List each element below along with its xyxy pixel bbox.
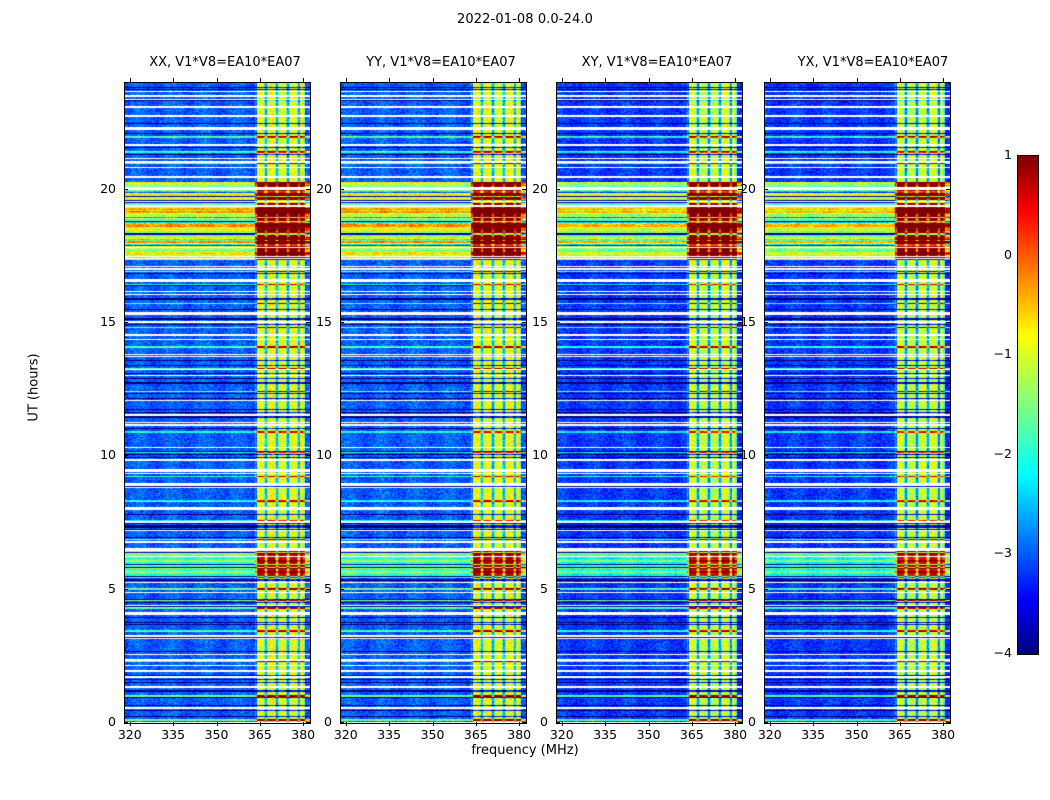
x-tick-mark <box>433 722 434 726</box>
y-tick-label-0: 0 <box>518 714 548 729</box>
x-tick-mark-top <box>130 78 131 82</box>
x-tick-mark-top <box>735 78 736 82</box>
y-tick-mark <box>124 455 128 456</box>
x-tick-mark-top <box>476 78 477 82</box>
x-tick-mark-top <box>217 78 218 82</box>
x-tick-mark <box>605 722 606 726</box>
waterfall-image-yx <box>765 83 950 723</box>
colorbar-tick-label--3: −3 <box>986 545 1012 560</box>
x-tick-mark-top <box>605 78 606 82</box>
x-tick-label-335: 335 <box>153 727 193 742</box>
y-tick-label-10: 10 <box>726 447 756 462</box>
y-tick-mark-right <box>946 589 950 590</box>
y-tick-label-10: 10 <box>86 447 116 462</box>
y-tick-mark <box>340 189 344 190</box>
x-tick-label-365: 365 <box>456 727 496 742</box>
x-tick-label-380: 380 <box>283 727 323 742</box>
y-tick-label-20: 20 <box>86 181 116 196</box>
x-tick-mark <box>346 722 347 726</box>
y-tick-mark <box>556 322 560 323</box>
y-tick-label-5: 5 <box>518 581 548 596</box>
y-tick-label-0: 0 <box>86 714 116 729</box>
x-axis-label: frequency (MHz) <box>375 743 675 758</box>
y-tick-label-0: 0 <box>726 714 756 729</box>
x-tick-label-335: 335 <box>793 727 833 742</box>
waterfall-image-xx <box>125 83 310 723</box>
waterfall-image-xy <box>557 83 742 723</box>
y-tick-mark <box>556 189 560 190</box>
y-tick-mark <box>764 722 768 723</box>
x-tick-mark <box>217 722 218 726</box>
x-tick-mark <box>130 722 131 726</box>
y-tick-mark <box>340 722 344 723</box>
y-tick-mark <box>556 455 560 456</box>
x-tick-label-320: 320 <box>750 727 790 742</box>
x-tick-label-365: 365 <box>880 727 920 742</box>
y-tick-label-0: 0 <box>302 714 332 729</box>
x-tick-mark-top <box>692 78 693 82</box>
x-tick-mark-top <box>389 78 390 82</box>
x-tick-label-350: 350 <box>629 727 669 742</box>
x-tick-label-335: 335 <box>585 727 625 742</box>
x-tick-mark-top <box>519 78 520 82</box>
x-tick-mark <box>813 722 814 726</box>
y-tick-mark <box>764 322 768 323</box>
x-tick-mark-top <box>303 78 304 82</box>
y-tick-mark <box>340 455 344 456</box>
x-tick-mark <box>389 722 390 726</box>
x-tick-mark <box>900 722 901 726</box>
y-tick-mark <box>764 189 768 190</box>
x-tick-mark-top <box>813 78 814 82</box>
figure-suptitle: 2022-01-08 0.0-24.0 <box>0 12 1050 27</box>
y-tick-label-5: 5 <box>302 581 332 596</box>
y-tick-mark <box>340 322 344 323</box>
x-tick-label-320: 320 <box>110 727 150 742</box>
x-tick-label-350: 350 <box>413 727 453 742</box>
x-tick-label-380: 380 <box>499 727 539 742</box>
colorbar-tick-label--4: −4 <box>986 645 1012 660</box>
colorbar-tick-label--2: −2 <box>986 446 1012 461</box>
y-tick-mark <box>556 722 560 723</box>
x-tick-mark <box>857 722 858 726</box>
panel-title-yx: YX, V1*V8=EA10*EA07 <box>743 55 1003 70</box>
waterfall-panel-xy[interactable] <box>556 82 743 724</box>
x-tick-mark-top <box>173 78 174 82</box>
x-tick-mark <box>173 722 174 726</box>
y-tick-label-15: 15 <box>726 314 756 329</box>
x-tick-mark-top <box>649 78 650 82</box>
x-tick-mark-top <box>260 78 261 82</box>
waterfall-panel-yx[interactable] <box>764 82 951 724</box>
y-tick-mark-right <box>946 455 950 456</box>
y-tick-mark <box>764 589 768 590</box>
colorbar[interactable] <box>1017 155 1039 655</box>
y-tick-mark <box>124 722 128 723</box>
y-tick-mark <box>124 322 128 323</box>
y-tick-label-15: 15 <box>302 314 332 329</box>
x-tick-label-365: 365 <box>672 727 712 742</box>
y-tick-mark <box>556 589 560 590</box>
x-tick-mark <box>943 722 944 726</box>
x-tick-label-335: 335 <box>369 727 409 742</box>
x-tick-mark <box>260 722 261 726</box>
y-tick-label-5: 5 <box>726 581 756 596</box>
y-tick-label-10: 10 <box>302 447 332 462</box>
x-tick-mark-top <box>346 78 347 82</box>
y-tick-mark <box>764 455 768 456</box>
y-tick-mark <box>124 189 128 190</box>
y-tick-mark <box>124 589 128 590</box>
x-tick-label-380: 380 <box>923 727 963 742</box>
x-tick-label-350: 350 <box>837 727 877 742</box>
colorbar-tick-label-1: 1 <box>986 147 1012 162</box>
colorbar-tick-label-0: 0 <box>986 247 1012 262</box>
x-tick-mark-top <box>433 78 434 82</box>
y-tick-mark-right <box>946 722 950 723</box>
y-tick-label-10: 10 <box>518 447 548 462</box>
x-tick-mark-top <box>562 78 563 82</box>
y-tick-label-20: 20 <box>302 181 332 196</box>
x-tick-mark <box>770 722 771 726</box>
waterfall-image-yy <box>341 83 526 723</box>
x-tick-label-320: 320 <box>542 727 582 742</box>
y-tick-label-15: 15 <box>86 314 116 329</box>
x-tick-label-320: 320 <box>326 727 366 742</box>
x-tick-mark <box>476 722 477 726</box>
y-axis-label: UT (hours) <box>27 328 42 448</box>
y-tick-label-20: 20 <box>518 181 548 196</box>
y-tick-label-15: 15 <box>518 314 548 329</box>
x-tick-mark-top <box>943 78 944 82</box>
x-tick-label-350: 350 <box>197 727 237 742</box>
x-tick-mark <box>562 722 563 726</box>
x-tick-mark <box>649 722 650 726</box>
x-tick-mark <box>692 722 693 726</box>
x-tick-mark-top <box>900 78 901 82</box>
y-tick-label-5: 5 <box>86 581 116 596</box>
colorbar-gradient <box>1018 156 1038 654</box>
y-tick-label-20: 20 <box>726 181 756 196</box>
waterfall-panel-xx[interactable] <box>124 82 311 724</box>
y-tick-mark-right <box>946 189 950 190</box>
y-tick-mark <box>340 589 344 590</box>
x-tick-mark-top <box>770 78 771 82</box>
colorbar-tick-label--1: −1 <box>986 346 1012 361</box>
x-tick-label-365: 365 <box>240 727 280 742</box>
waterfall-panel-yy[interactable] <box>340 82 527 724</box>
y-tick-mark-right <box>946 322 950 323</box>
x-tick-mark-top <box>857 78 858 82</box>
